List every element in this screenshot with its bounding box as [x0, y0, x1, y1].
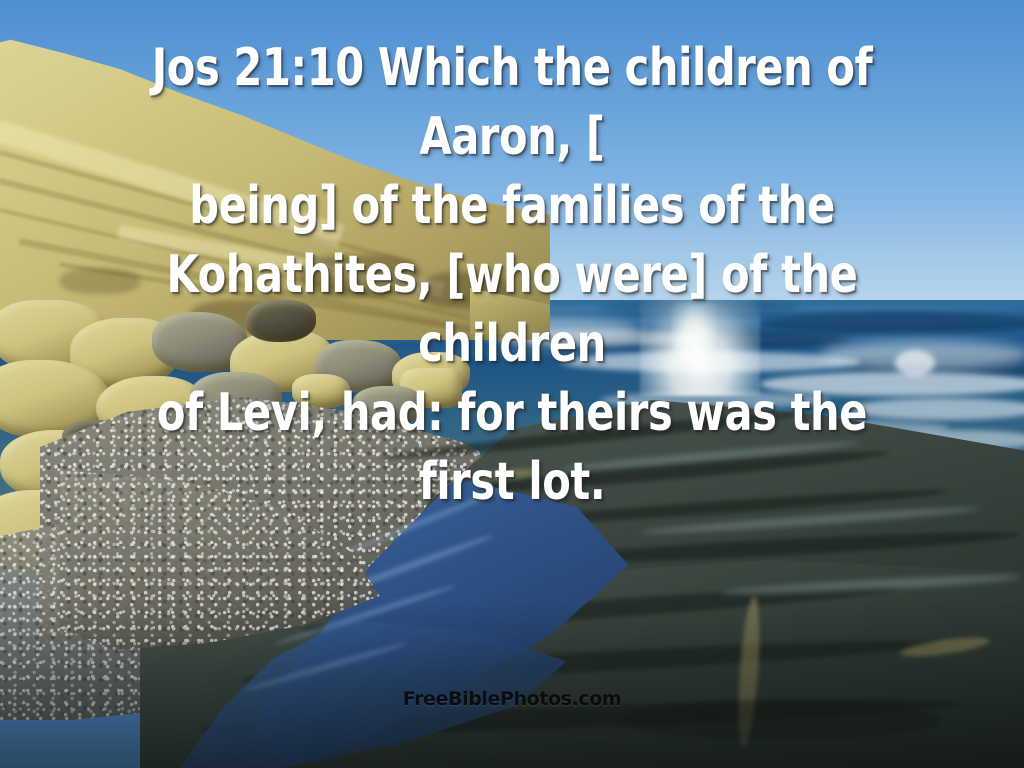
verse-text: Jos 21:10 Which the children of Aaron, […: [102, 34, 921, 517]
foreground-sheen: [0, 600, 1024, 768]
watermark-credit: FreeBiblePhotos.com: [0, 688, 1024, 710]
verse-photo-canvas: Jos 21:10 Which the children of Aaron, […: [0, 0, 1024, 768]
